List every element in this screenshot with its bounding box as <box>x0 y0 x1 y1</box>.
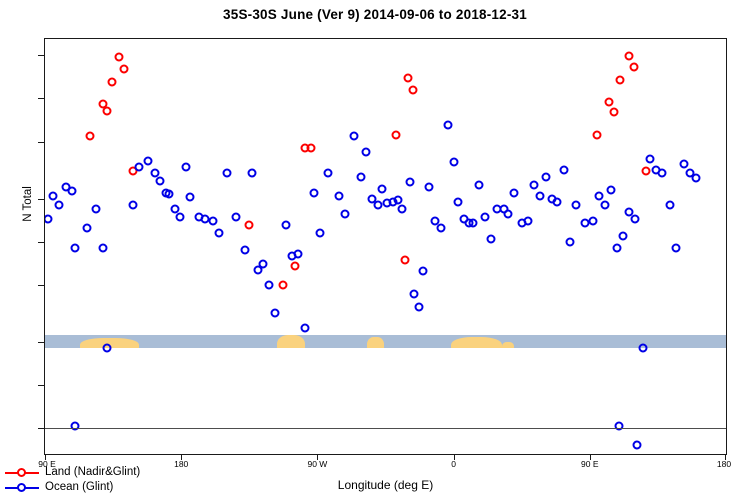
data-point-ocean <box>215 229 224 238</box>
x-axis-tick-label: 180 <box>717 459 731 469</box>
data-point-land <box>605 98 614 107</box>
data-point-ocean <box>535 191 544 200</box>
data-point-ocean <box>134 163 143 172</box>
data-point-ocean <box>606 185 615 194</box>
data-point-land <box>404 73 413 82</box>
data-point-ocean <box>208 216 217 225</box>
data-point-ocean <box>293 250 302 259</box>
data-point-ocean <box>165 190 174 199</box>
legend-dot-icon <box>17 468 26 477</box>
data-point-ocean <box>48 191 57 200</box>
data-point-land <box>641 167 650 176</box>
data-point-ocean <box>666 201 675 210</box>
data-point-ocean <box>231 212 240 221</box>
legend-marker-icon <box>5 472 39 473</box>
data-point-ocean <box>419 267 428 276</box>
y-axis-tick <box>38 385 45 386</box>
data-point-ocean <box>410 290 419 299</box>
y-axis-tick <box>38 55 45 56</box>
y-axis-tick <box>38 142 45 143</box>
y-axis-tick <box>38 242 45 243</box>
data-point-ocean <box>240 245 249 254</box>
data-point-ocean <box>631 214 640 223</box>
x-axis-tick-label: 90 W <box>307 459 327 469</box>
data-point-ocean <box>619 231 628 240</box>
data-point-ocean <box>258 259 267 268</box>
data-point-ocean <box>449 158 458 167</box>
data-point-land <box>86 131 95 140</box>
data-point-ocean <box>156 177 165 186</box>
data-point-ocean <box>98 244 107 253</box>
ocean-band <box>45 335 726 348</box>
data-point-ocean <box>481 212 490 221</box>
data-point-land <box>629 63 638 72</box>
data-point-ocean <box>443 121 452 130</box>
x-axis-tick-label: 180 <box>174 459 188 469</box>
data-point-ocean <box>672 244 681 253</box>
data-point-ocean <box>572 201 581 210</box>
data-point-ocean <box>340 210 349 219</box>
data-point-ocean <box>264 280 273 289</box>
data-point-ocean <box>414 303 423 312</box>
data-point-ocean <box>186 193 195 202</box>
gridline-horizontal <box>45 428 726 429</box>
data-point-ocean <box>469 219 478 228</box>
data-point-ocean <box>334 191 343 200</box>
data-point-land <box>625 51 634 60</box>
data-point-land <box>245 221 254 230</box>
figure-root: 35S-30S June (Ver 9) 2014-09-06 to 2018-… <box>0 0 750 500</box>
data-point-ocean <box>281 221 290 230</box>
data-point-ocean <box>588 216 597 225</box>
data-point-ocean <box>128 201 137 210</box>
chart-title: 35S-30S June (Ver 9) 2014-09-06 to 2018-… <box>0 7 750 22</box>
data-point-land <box>307 144 316 153</box>
data-point-ocean <box>613 244 622 253</box>
data-point-ocean <box>600 201 609 210</box>
data-point-ocean <box>248 169 257 178</box>
data-point-ocean <box>83 223 92 232</box>
data-point-ocean <box>373 201 382 210</box>
data-point-ocean <box>175 212 184 221</box>
x-axis-label: Longitude (deg E) <box>44 478 727 492</box>
plot-frame: 50100200500100020005000100002000090 E180… <box>44 38 727 455</box>
data-point-ocean <box>646 154 655 163</box>
data-point-land <box>115 52 124 61</box>
data-point-land <box>401 256 410 265</box>
data-point-ocean <box>566 237 575 246</box>
data-point-land <box>107 78 116 87</box>
data-point-ocean <box>316 229 325 238</box>
legend-label: Ocean (Glint) <box>45 480 113 495</box>
data-point-ocean <box>181 163 190 172</box>
y-axis-tick <box>38 342 45 343</box>
data-point-ocean <box>301 323 310 332</box>
data-point-land <box>616 75 625 84</box>
data-point-land <box>610 108 619 117</box>
data-point-ocean <box>504 210 513 219</box>
data-point-ocean <box>361 148 370 157</box>
x-axis-tick-label: 0 <box>451 459 456 469</box>
data-point-ocean <box>45 214 53 223</box>
data-point-ocean <box>437 223 446 232</box>
data-point-ocean <box>323 169 332 178</box>
data-point-ocean <box>487 234 496 243</box>
data-point-ocean <box>222 169 231 178</box>
data-point-land <box>408 85 417 94</box>
data-point-ocean <box>552 197 561 206</box>
y-axis-label: N Total <box>22 144 34 264</box>
data-point-ocean <box>510 188 519 197</box>
data-point-ocean <box>658 169 667 178</box>
data-point-ocean <box>594 191 603 200</box>
land-patch <box>451 337 502 348</box>
data-point-ocean <box>92 204 101 213</box>
data-point-land <box>392 130 401 139</box>
data-point-ocean <box>271 308 280 317</box>
data-point-ocean <box>560 166 569 175</box>
x-axis-tick-label: 90 E <box>581 459 599 469</box>
data-point-land <box>119 65 128 74</box>
data-point-ocean <box>71 244 80 253</box>
y-axis-tick <box>38 428 45 429</box>
data-point-ocean <box>425 183 434 192</box>
data-point-ocean <box>349 131 358 140</box>
data-point-ocean <box>632 441 641 450</box>
data-point-ocean <box>103 344 112 353</box>
y-axis-tick <box>38 285 45 286</box>
plot-area <box>45 39 726 454</box>
data-point-ocean <box>691 173 700 182</box>
data-point-ocean <box>405 178 414 187</box>
data-point-land <box>593 130 602 139</box>
legend-dot-icon <box>17 483 26 492</box>
data-point-ocean <box>143 157 152 166</box>
data-point-ocean <box>523 216 532 225</box>
legend-label: Land (Nadir&Glint) <box>45 465 140 480</box>
coastline-strip <box>45 335 726 348</box>
data-point-ocean <box>310 188 319 197</box>
data-point-ocean <box>541 172 550 181</box>
data-point-ocean <box>378 184 387 193</box>
data-point-ocean <box>68 187 77 196</box>
data-point-ocean <box>357 172 366 181</box>
y-axis-tick <box>38 199 45 200</box>
data-point-land <box>103 106 112 115</box>
land-patch <box>367 337 384 347</box>
land-patch <box>277 335 306 347</box>
data-point-ocean <box>679 159 688 168</box>
data-point-ocean <box>638 344 647 353</box>
data-point-land <box>290 261 299 270</box>
data-point-land <box>278 280 287 289</box>
data-point-ocean <box>529 180 538 189</box>
data-point-ocean <box>54 201 63 210</box>
data-point-ocean <box>475 180 484 189</box>
legend-marker-icon <box>5 487 39 488</box>
data-point-ocean <box>454 197 463 206</box>
land-patch <box>502 342 514 348</box>
y-axis-tick <box>38 98 45 99</box>
data-point-ocean <box>398 204 407 213</box>
